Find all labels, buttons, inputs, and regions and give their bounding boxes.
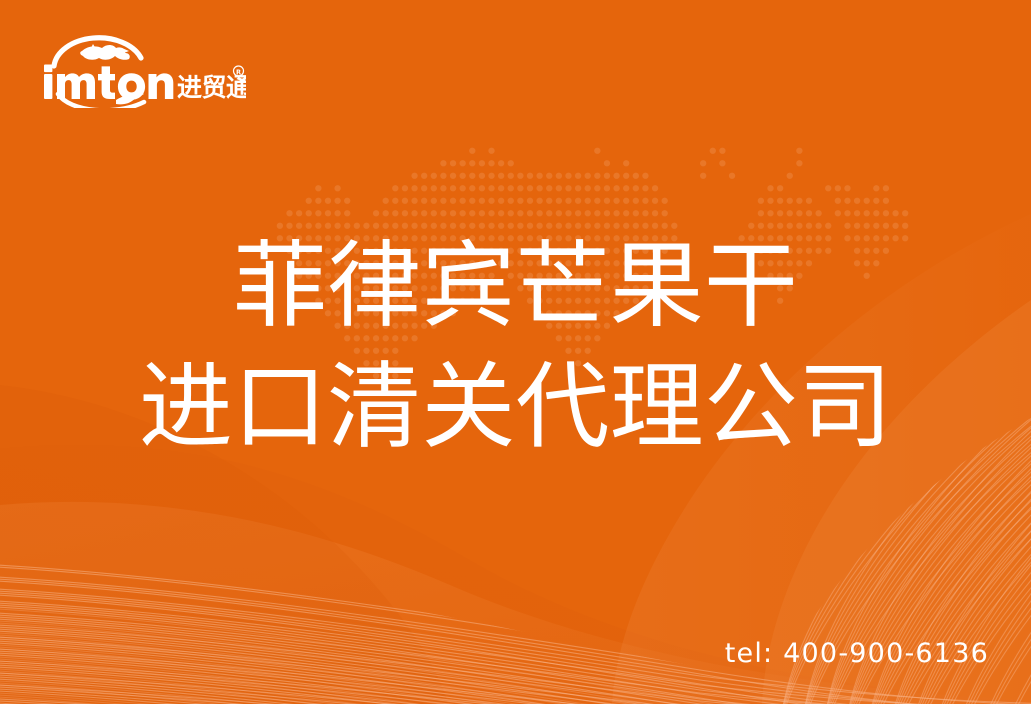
logo-wordmark: [44, 65, 173, 100]
poster-canvas: 进贸通 R 菲律宾芒果干 进口清关代理公司 tel: 400-900-6136: [0, 0, 1031, 704]
contact-phone: tel: 400-900-6136: [725, 638, 989, 669]
swoosh-arrow-icon: [58, 93, 144, 108]
imton-logo: 进贸通 R: [36, 32, 246, 108]
headline-block: 菲律宾芒果干 进口清关代理公司: [0, 232, 1031, 462]
headline-line-2: 进口清关代理公司: [0, 353, 1031, 462]
logo-chinese-text: 进贸通: [177, 73, 246, 102]
svg-text:R: R: [236, 68, 241, 76]
registered-trademark-icon: R: [234, 66, 244, 76]
globe-arc-icon: [54, 38, 141, 66]
headline-line-1: 菲律宾芒果干: [0, 232, 1031, 341]
